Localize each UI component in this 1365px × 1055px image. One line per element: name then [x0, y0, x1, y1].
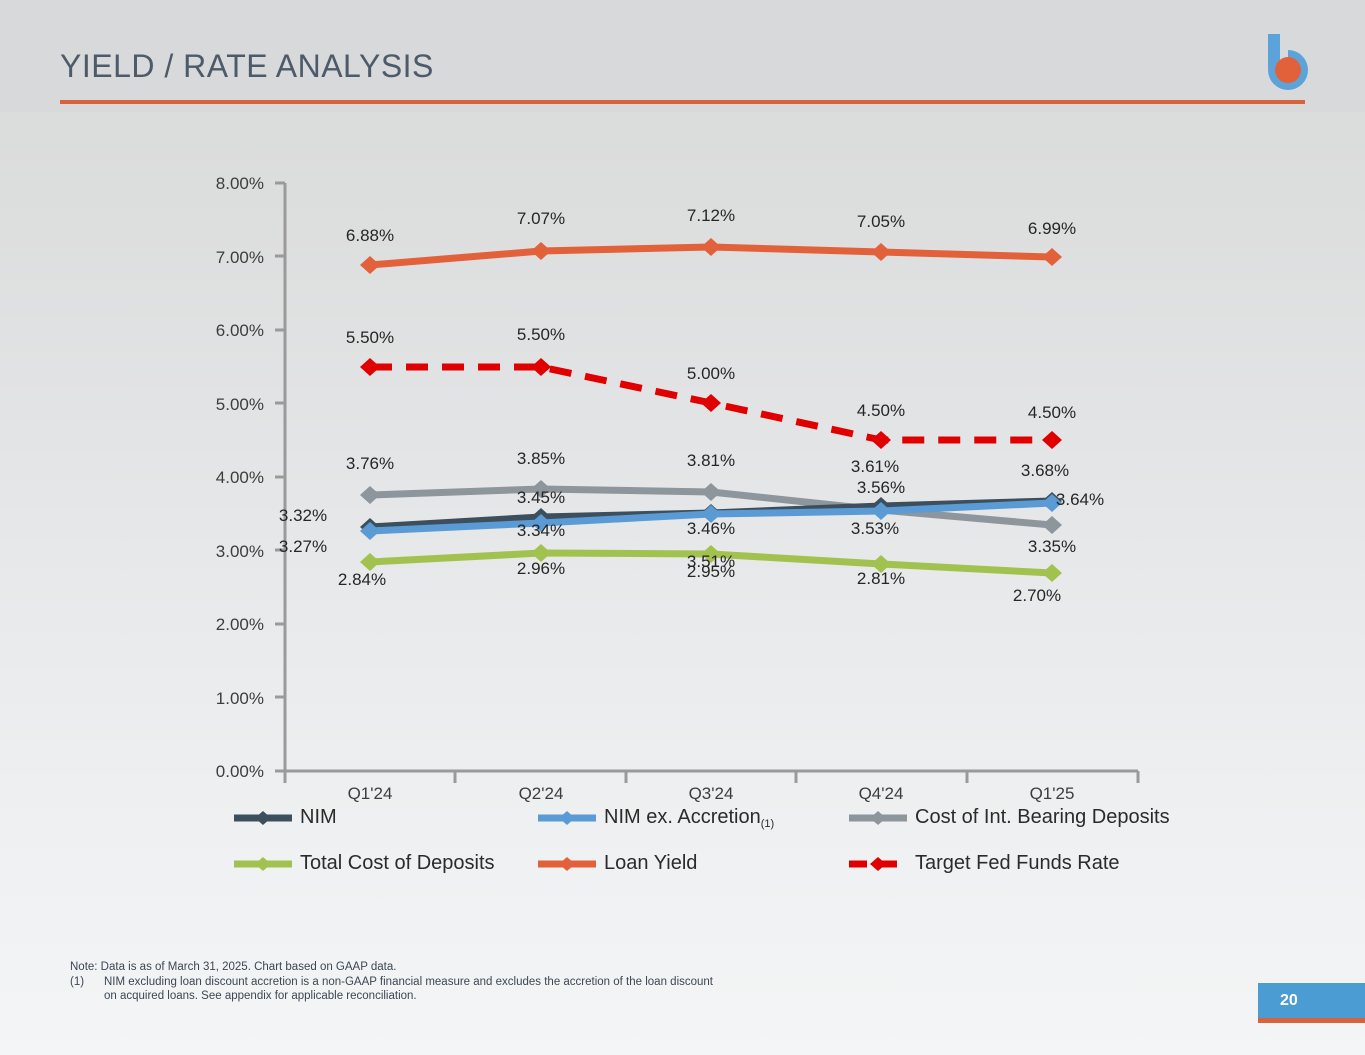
footnote-note: Note: Data is as of March 31, 2025. Char… — [70, 960, 830, 975]
footnote-1: (1) NIM excluding loan discount accretio… — [70, 975, 830, 1004]
data-label-total-cost-of-deposits: 2.96% — [496, 559, 586, 579]
data-label-nim-ex-accretion: 3.46% — [666, 519, 756, 539]
data-label-target-fed-funds-rate: 5.50% — [325, 328, 415, 348]
legend-item-nim[interactable]: NIM — [232, 806, 337, 829]
data-label-nim: 3.45% — [496, 488, 586, 508]
footnote-line-2: on acquired loans. See appendix for appl… — [104, 990, 417, 1002]
legend-swatch-loan-yield — [536, 854, 598, 874]
data-label-cost-of-int-bearing-deposits: 3.56% — [836, 478, 926, 498]
b-logo — [1248, 28, 1318, 100]
data-label-target-fed-funds-rate: 5.50% — [496, 325, 586, 345]
footnotes: Note: Data is as of March 31, 2025. Char… — [70, 960, 830, 1004]
data-label-total-cost-of-deposits: 2.95% — [666, 562, 756, 582]
legend-swatch-target-fed-funds-rate — [847, 854, 909, 874]
data-label-cost-of-int-bearing-deposits: 3.76% — [325, 454, 415, 474]
legend-item-cost-of-int-bearing-deposits[interactable]: Cost of Int. Bearing Deposits — [847, 806, 1170, 829]
data-label-nim-ex-accretion: 3.34% — [496, 521, 586, 541]
page-badge-accent-bar — [1258, 1018, 1365, 1023]
legend-label: Loan Yield — [604, 852, 697, 875]
legend-swatch-nim — [232, 808, 294, 828]
data-label-cost-of-int-bearing-deposits: 3.85% — [496, 449, 586, 469]
data-label-total-cost-of-deposits: 2.84% — [317, 570, 407, 590]
page-number: 20 — [1280, 992, 1298, 1010]
data-label-target-fed-funds-rate: 4.50% — [836, 401, 926, 421]
data-label-loan-yield: 7.12% — [666, 206, 756, 226]
slide-header: YIELD / RATE ANALYSIS — [0, 0, 1365, 112]
data-label-target-fed-funds-rate: 5.00% — [666, 364, 756, 384]
data-label-loan-yield: 7.05% — [836, 212, 926, 232]
data-label-cost-of-int-bearing-deposits: 3.35% — [1007, 537, 1097, 557]
data-label-nim-ex-accretion: 3.53% — [830, 519, 920, 539]
footnote-line-1: NIM excluding loan discount accretion is… — [104, 976, 713, 988]
legend-item-target-fed-funds-rate[interactable]: Target Fed Funds Rate — [847, 852, 1120, 875]
legend-label: NIM — [300, 806, 337, 829]
data-label-target-fed-funds-rate: 4.50% — [1007, 403, 1097, 423]
legend-item-nim-ex-accretion[interactable]: NIM ex. Accretion(1) — [536, 806, 774, 829]
x-tick-label: Q1'25 — [992, 784, 1112, 804]
legend-label: NIM ex. Accretion(1) — [604, 806, 774, 829]
data-label-nim: 3.61% — [830, 457, 920, 477]
chart-legend: NIM NIM ex. Accretion(1) Cost of Int. Be… — [232, 806, 1212, 898]
data-label-nim-ex-accretion: 3.64% — [1035, 490, 1125, 510]
x-tick-label: Q4'24 — [821, 784, 941, 804]
page-number-badge: 20 — [1258, 983, 1365, 1023]
data-label-total-cost-of-deposits: 2.81% — [836, 569, 926, 589]
data-label-cost-of-int-bearing-deposits: 3.81% — [666, 451, 756, 471]
data-label-nim: 3.68% — [1000, 461, 1090, 481]
x-tick-label: Q3'24 — [651, 784, 771, 804]
legend-swatch-cost-of-int-bearing-deposits — [847, 808, 909, 828]
title-underline-rule — [60, 100, 1305, 104]
legend-swatch-nim-ex-accretion — [536, 808, 598, 828]
legend-label-text: NIM ex. Accretion — [604, 806, 761, 828]
x-tick-label: Q1'24 — [310, 784, 430, 804]
legend-item-total-cost-of-deposits[interactable]: Total Cost of Deposits — [232, 852, 495, 875]
x-tick-label: Q2'24 — [481, 784, 601, 804]
data-label-nim: 3.32% — [258, 506, 348, 526]
legend-label: Total Cost of Deposits — [300, 852, 495, 875]
legend-label: Cost of Int. Bearing Deposits — [915, 806, 1170, 829]
series-loan-yield — [360, 238, 1062, 274]
legend-footnote-ref: (1) — [761, 818, 774, 830]
data-label-loan-yield: 6.99% — [1007, 219, 1097, 239]
page-title: YIELD / RATE ANALYSIS — [60, 48, 434, 85]
data-label-nim-ex-accretion: 3.27% — [258, 537, 348, 557]
data-label-total-cost-of-deposits: 2.70% — [992, 586, 1082, 606]
chart-container: 8.00% 7.00% 6.00% 5.00% 4.00% 3.00% 2.00… — [0, 112, 1365, 902]
data-label-loan-yield: 6.88% — [325, 226, 415, 246]
footnote-marker: (1) — [70, 975, 104, 1004]
legend-item-loan-yield[interactable]: Loan Yield — [536, 852, 697, 875]
legend-label: Target Fed Funds Rate — [915, 852, 1120, 875]
data-label-loan-yield: 7.07% — [496, 209, 586, 229]
legend-swatch-total-cost-of-deposits — [232, 854, 294, 874]
